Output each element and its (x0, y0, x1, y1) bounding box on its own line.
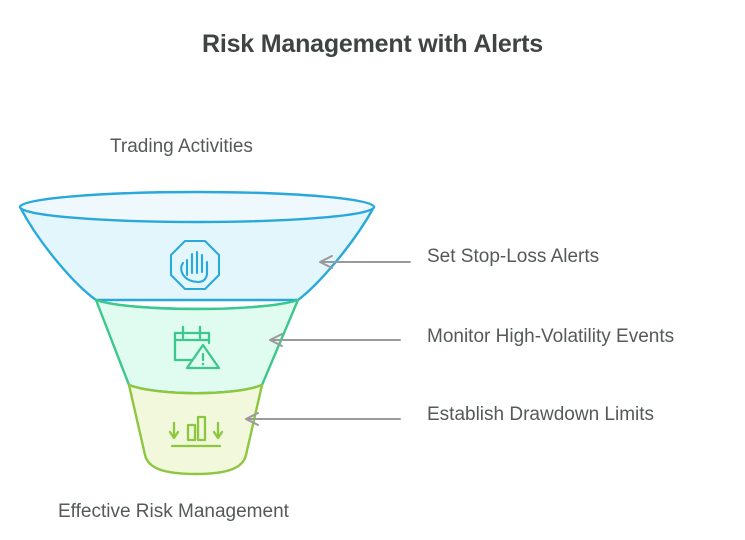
funnel-stage-1[interactable] (20, 192, 374, 309)
stage-label-1: Set Stop-Loss Alerts (427, 246, 599, 268)
funnel-stage-2[interactable] (96, 300, 298, 393)
funnel-stage-2-body (96, 300, 298, 393)
funnel-top-rim (20, 192, 374, 222)
connector-3 (246, 413, 400, 425)
funnel-graphic (0, 0, 745, 540)
stage-label-3: Establish Drawdown Limits (427, 404, 654, 426)
diagram-canvas: Risk Management with Alerts Trading Acti… (0, 0, 745, 540)
connector-2 (270, 334, 400, 346)
stage-label-2: Monitor High-Volatility Events (427, 326, 674, 348)
